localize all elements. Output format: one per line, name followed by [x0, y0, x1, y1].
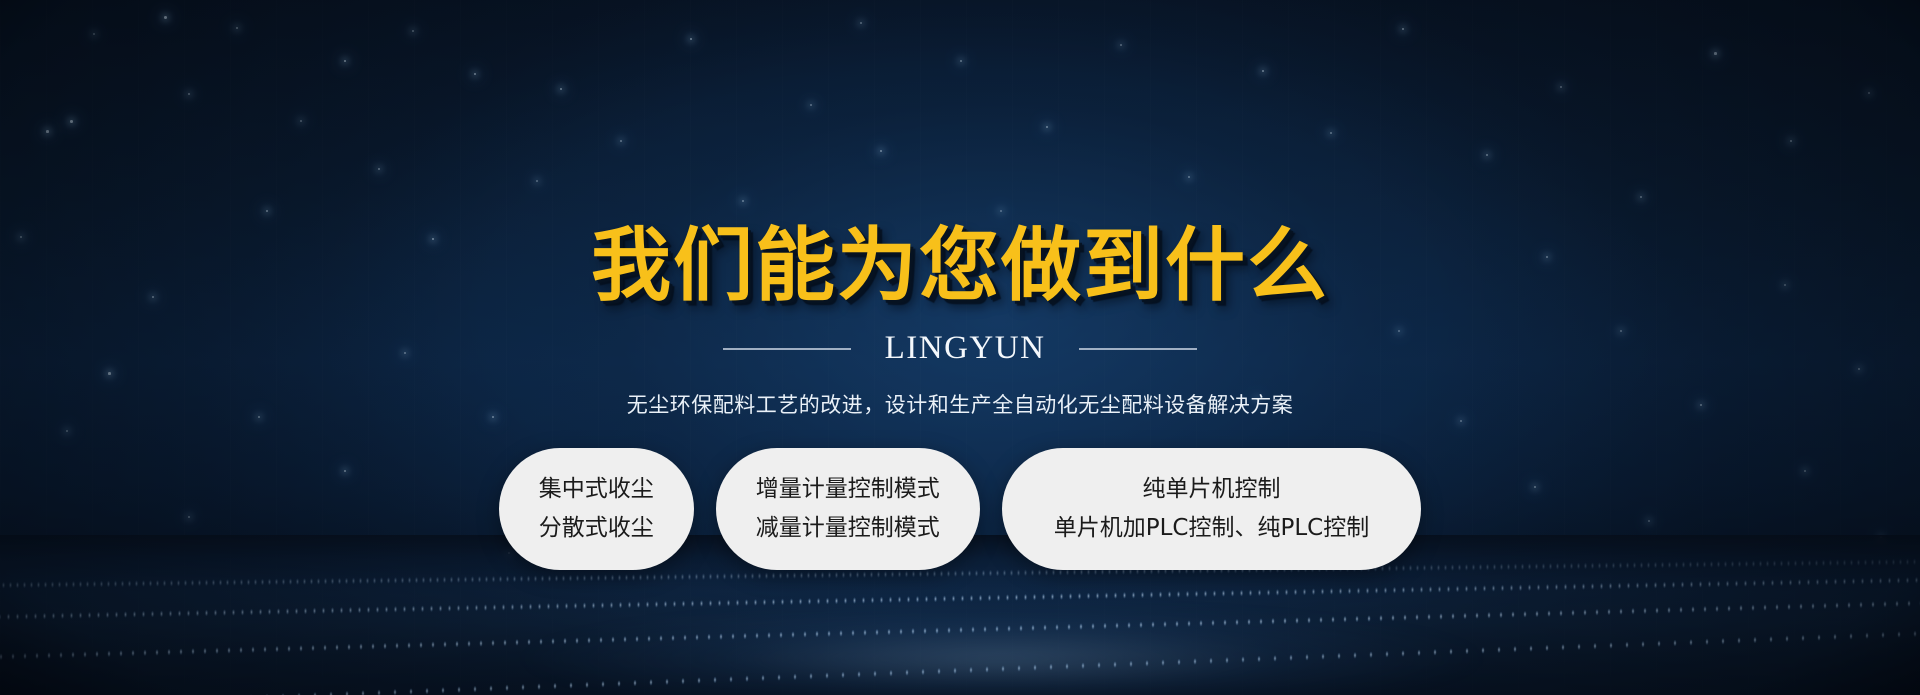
- pill-line-1: 集中式收尘: [539, 478, 654, 501]
- feature-pill-dust-collection[interactable]: 集中式收尘 分散式收尘: [499, 448, 694, 570]
- feature-pill-control-system[interactable]: 纯单片机控制 单片机加PLC控制、纯PLC控制: [1002, 448, 1422, 570]
- banner-content: 我们能为您做到什么 LINGYUN 无尘环保配料工艺的改进，设计和生产全自动化无…: [0, 0, 1920, 695]
- page-title: 我们能为您做到什么: [591, 226, 1329, 306]
- pill-line-1: 增量计量控制模式: [756, 478, 940, 501]
- pill-line-2: 单片机加PLC控制、纯PLC控制: [1054, 517, 1370, 540]
- hero-banner: 我们能为您做到什么 LINGYUN 无尘环保配料工艺的改进，设计和生产全自动化无…: [0, 0, 1920, 695]
- pill-line-2: 减量计量控制模式: [756, 517, 940, 540]
- feature-pill-metering-mode[interactable]: 增量计量控制模式 减量计量控制模式: [716, 448, 980, 570]
- divider-right-line: [1079, 348, 1197, 350]
- pill-line-2: 分散式收尘: [539, 517, 654, 540]
- divider-left-line: [723, 348, 851, 350]
- feature-pill-group: 集中式收尘 分散式收尘 增量计量控制模式 减量计量控制模式 纯单片机控制 单片机…: [499, 448, 1422, 570]
- brand-name: LINGYUN: [885, 330, 1046, 367]
- banner-description: 无尘环保配料工艺的改进，设计和生产全自动化无尘配料设备解决方案: [627, 389, 1294, 419]
- pill-line-1: 纯单片机控制: [1143, 478, 1281, 501]
- brand-row: LINGYUN: [723, 330, 1198, 367]
